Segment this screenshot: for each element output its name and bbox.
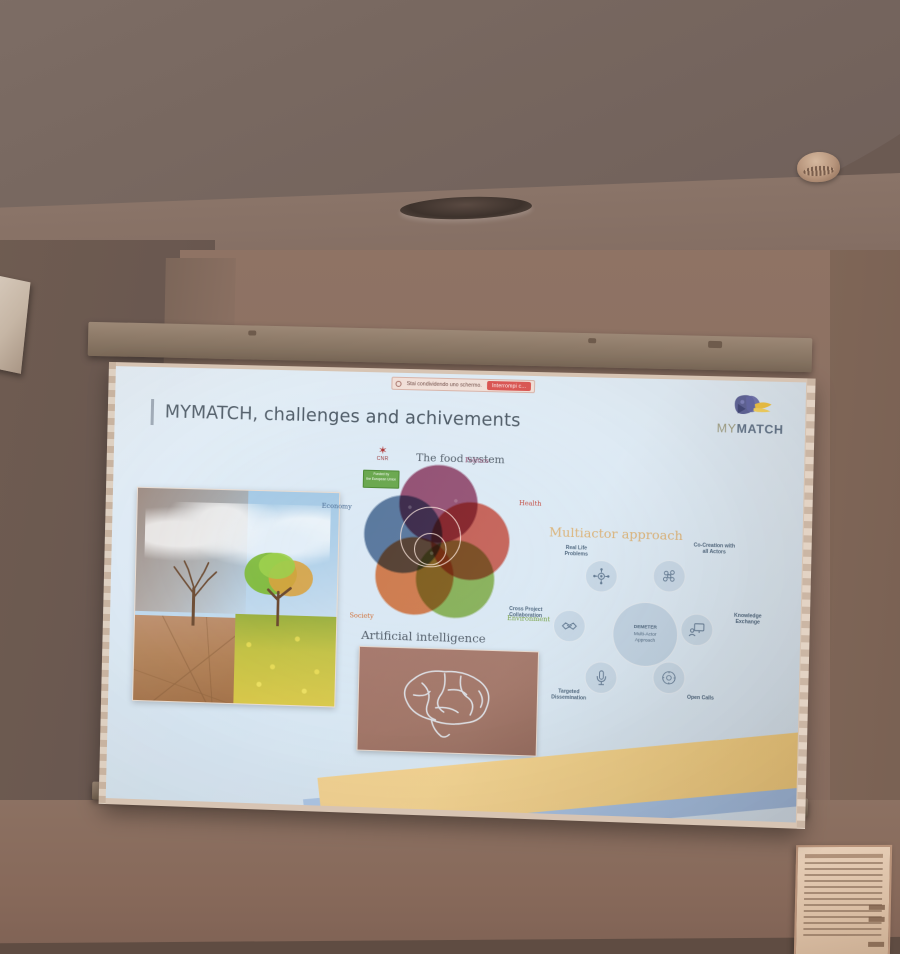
venn-label-politics: Politics <box>465 456 489 465</box>
node-open-calls[interactable] <box>652 661 686 695</box>
dead-tree-icon <box>163 552 227 626</box>
projection-screen: Stai condividendo uno schermo. Interromp… <box>102 362 813 829</box>
climate-contrast-image <box>132 487 340 708</box>
notice-tab <box>869 917 885 922</box>
venn-label-economy: Economy <box>322 502 352 511</box>
sharing-message: Stai condividendo uno schermo. <box>407 381 482 389</box>
megaphone-icon <box>592 668 611 687</box>
powerpoint-slide: Stai condividendo uno schermo. Interromp… <box>106 366 806 822</box>
node-real-life-problems[interactable] <box>585 560 619 593</box>
multiactor-diagram: DEMETER Multi-Actor Approach Real LifePr… <box>522 546 777 718</box>
mymatch-logo-mark-icon <box>726 391 776 423</box>
notice-text-lines <box>803 862 883 936</box>
photo-cracked-earth <box>133 615 239 703</box>
node-knowledge-exchange[interactable] <box>680 613 714 647</box>
target-network-icon <box>592 567 611 586</box>
title-accent-bar <box>151 399 155 425</box>
logo-my: MY <box>717 421 737 436</box>
brain-icon <box>386 660 510 743</box>
venn-label-society: Society <box>349 611 373 620</box>
label-real-life-problems: Real LifeProblems <box>544 544 608 558</box>
label-co-creation: Co-Creation withall Actors <box>676 542 753 557</box>
green-tree-icon <box>239 546 317 627</box>
gear-circle-icon <box>659 668 678 687</box>
housing-bracket <box>588 338 596 343</box>
sharing-indicator-icon <box>395 380 401 386</box>
node-co-creation[interactable] <box>652 560 686 593</box>
handshake-icon <box>560 617 579 636</box>
logo-match: MATCH <box>736 421 783 436</box>
conference-room-photo: Stai condividendo uno schermo. Interromp… <box>0 0 900 954</box>
food-system-venn-diagram: Politics Health Environment Society Econ… <box>362 461 518 617</box>
framed-wall-notice <box>794 845 892 954</box>
center-line-3: Approach <box>635 637 655 644</box>
housing-bracket <box>708 341 722 348</box>
photo-flower-field <box>233 614 336 707</box>
presentation-screen-icon <box>687 620 706 639</box>
notice-tab <box>869 905 885 910</box>
screen-sharing-bar: Stai condividendo uno schermo. Interromp… <box>391 377 535 394</box>
mymatch-logo-text: MYMATCH <box>710 422 791 436</box>
slide-title-row: MYMATCH, challenges and achivements <box>151 399 521 434</box>
notice-tab <box>868 942 884 947</box>
heading-multiactor-approach: Multiactor approach <box>549 524 683 543</box>
label-targeted-dissemination: TargetedDissemination <box>537 688 601 703</box>
multiactor-center-node: DEMETER Multi-Actor Approach <box>612 601 679 668</box>
page-title: MYMATCH, challenges and achivements <box>165 402 521 431</box>
stop-sharing-button[interactable]: Interrompi c... <box>487 381 532 391</box>
mymatch-logo: MYMATCH <box>710 390 792 436</box>
venn-label-health: Health <box>519 499 542 508</box>
label-open-calls: Open Calls <box>668 694 732 702</box>
heading-artificial-intelligence: Artificial intelligence <box>361 628 486 646</box>
ai-brain-image <box>356 646 539 757</box>
molecule-cluster-icon <box>660 567 679 586</box>
notice-heading-line <box>805 854 883 858</box>
label-cross-project-collaboration: Cross ProjectCollaboration <box>490 605 562 620</box>
label-knowledge-exchange: KnowledgeExchange <box>716 612 780 627</box>
housing-bracket <box>248 330 256 335</box>
